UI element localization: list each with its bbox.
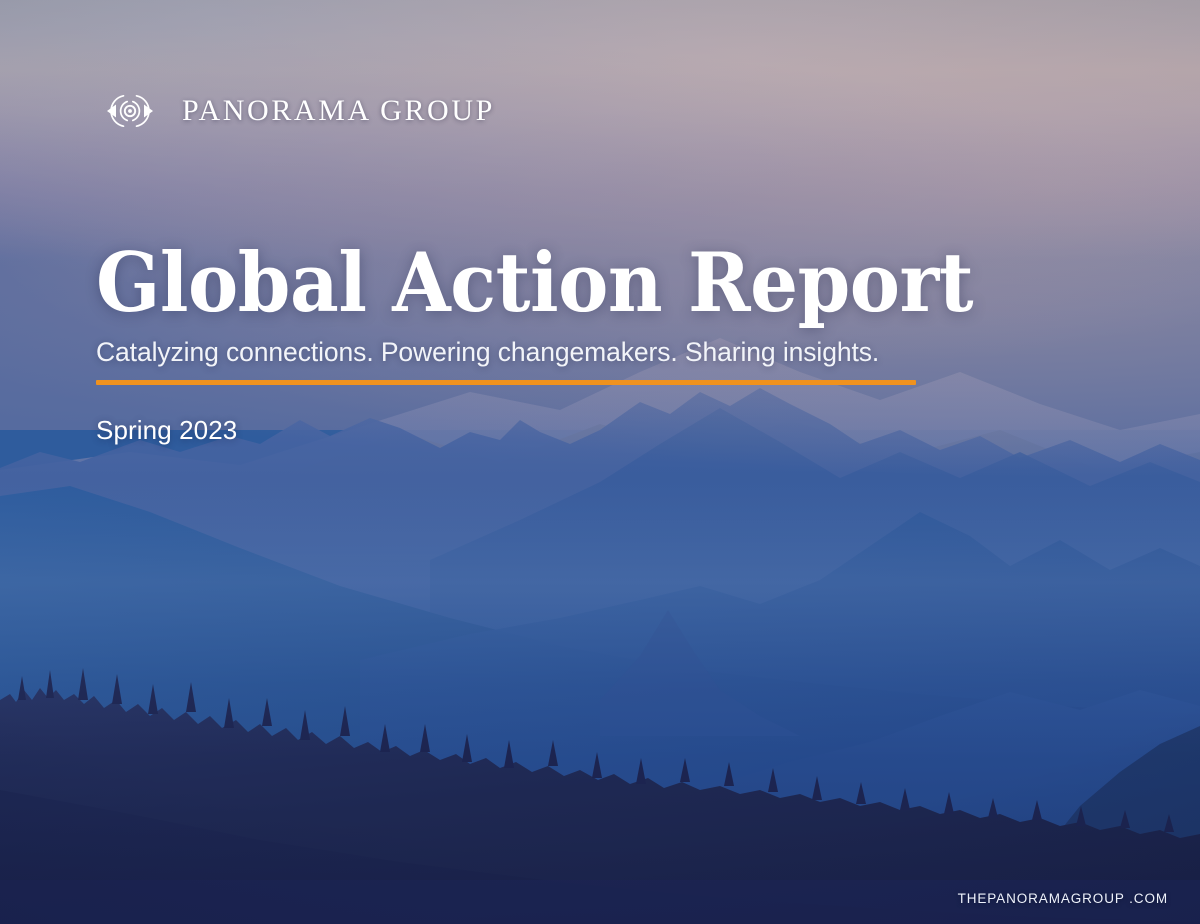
accent-divider xyxy=(96,380,916,385)
brand-lockup: PANORAMA GROUP xyxy=(96,88,495,134)
website-footer: THEPANORAMAGROUP .COM xyxy=(958,891,1168,906)
report-date: Spring 2023 xyxy=(96,415,1096,446)
report-cover-page: PANORAMA GROUP Global Action Report Cata… xyxy=(0,0,1200,924)
report-subtitle: Catalyzing connections. Powering changem… xyxy=(96,337,1096,368)
brand-wordmark: PANORAMA GROUP xyxy=(182,94,495,128)
concentric-radar-circles-icon xyxy=(96,88,164,134)
cover-title-block: Global Action Report Catalyzing connecti… xyxy=(96,244,1096,446)
report-title: Global Action Report xyxy=(96,244,1026,323)
